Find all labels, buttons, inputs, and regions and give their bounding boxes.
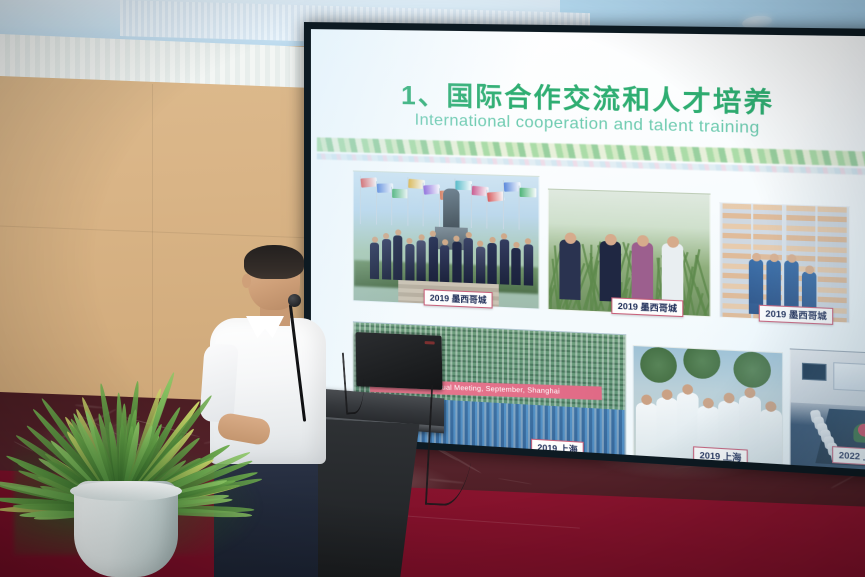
person-figure [499, 239, 508, 284]
person-figure [475, 247, 484, 284]
person-figure [523, 244, 532, 285]
person-figure [393, 235, 402, 280]
person-figure [382, 239, 391, 280]
person-figure [656, 397, 678, 463]
laptop[interactable] [356, 332, 443, 390]
microphone-icon[interactable] [288, 294, 301, 307]
person-figure [464, 238, 473, 283]
marble-vein [830, 475, 855, 489]
photo-caption: 2019 墨西哥城 [611, 297, 683, 317]
person-head [637, 235, 649, 247]
statue-figure [443, 188, 459, 229]
person-figure [452, 242, 461, 283]
photo-caption: 2019 墨西哥城 [759, 305, 834, 325]
person-figure [636, 402, 657, 462]
speaker-hair [244, 245, 304, 279]
person-figure [405, 244, 414, 281]
flag-icon [520, 188, 537, 198]
laptop-logo-icon [425, 341, 435, 344]
person-figure [511, 248, 520, 285]
photo-caption: 2019 墨西哥城 [424, 289, 493, 308]
person-figure [784, 260, 798, 305]
speaker-ear [242, 274, 251, 288]
slide-photo-flags-group [353, 170, 540, 309]
person-figure [559, 239, 580, 300]
person-figure [428, 237, 437, 282]
person-figure [760, 409, 782, 469]
person-figure [440, 245, 449, 282]
potted-plant [14, 262, 240, 577]
person-figure [662, 243, 684, 304]
person-figure [487, 243, 496, 284]
presentation-scene: 1、国际合作交流和人才培养 International cooperation … [0, 0, 865, 577]
person-head [565, 232, 577, 244]
flower-centerpiece [853, 423, 865, 443]
room-projection-screen [833, 362, 865, 392]
plant-stalk [549, 288, 551, 309]
person-figure [370, 243, 379, 280]
person-figure [766, 260, 780, 305]
person-head [667, 236, 679, 248]
person-head [605, 234, 617, 246]
marble-vein [498, 478, 532, 485]
person-figure [417, 240, 426, 281]
person-figure [632, 242, 653, 303]
person-figure [600, 241, 621, 302]
pot-rim [70, 481, 182, 501]
person-figure [749, 259, 763, 304]
